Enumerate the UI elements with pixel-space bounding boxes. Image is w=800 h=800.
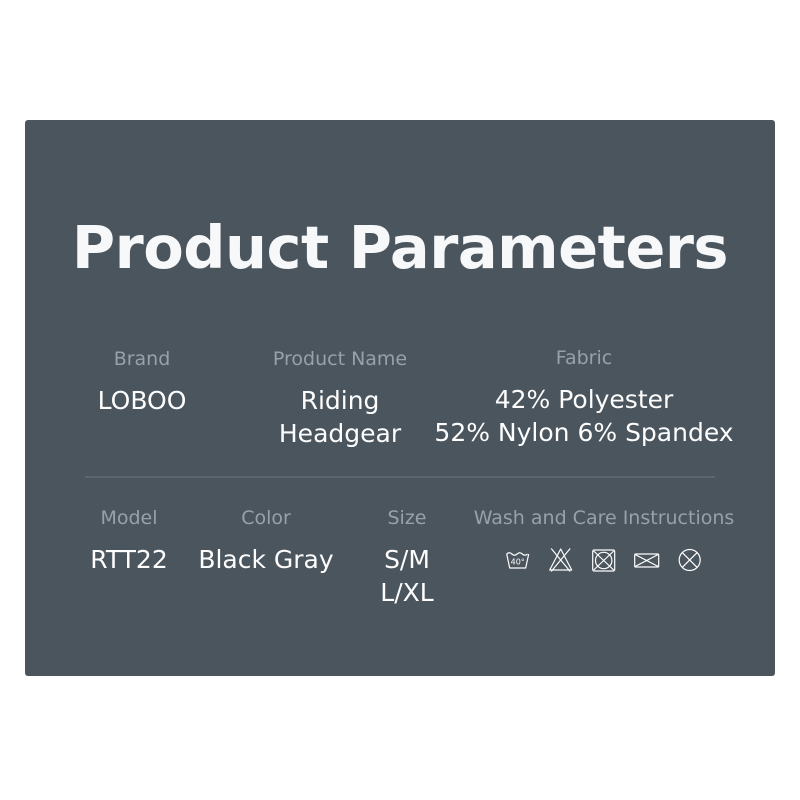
spec-value-color: Black Gray: [198, 543, 333, 576]
do-not-iron-icon: [632, 545, 662, 575]
spec-value-line: LOBOO: [98, 384, 187, 417]
page-root: Product Parameters Brand LOBOO Product N…: [0, 0, 800, 800]
section-divider: [85, 476, 715, 478]
spec-value-line: 52% Nylon 6% Spandex: [434, 416, 733, 449]
spec-cell-product-name: Product Name Riding Headgear: [273, 348, 407, 450]
care-icons-row: 40°: [474, 545, 735, 575]
specs-grid: Brand LOBOO Product Name Riding Headgear…: [25, 120, 775, 676]
spec-cell-fabric: Fabric 42% Polyester 52% Nylon 6% Spande…: [434, 347, 733, 449]
spec-value-product-name: Riding Headgear: [273, 384, 407, 451]
do-not-dry-clean-icon: [675, 545, 705, 575]
spec-label-brand: Brand: [98, 348, 187, 372]
spec-value-brand: LOBOO: [98, 384, 187, 417]
spec-cell-wash-care: Wash and Care Instructions 40°: [474, 507, 735, 575]
do-not-tumble-dry-icon: [589, 545, 619, 575]
spec-label-model: Model: [90, 507, 167, 531]
spec-label-color: Color: [198, 507, 333, 531]
spec-value-line: Headgear: [273, 417, 407, 450]
spec-value-model: RTT22: [90, 543, 167, 576]
spec-label-wash-care: Wash and Care Instructions: [474, 507, 735, 531]
spec-cell-color: Color Black Gray: [198, 507, 333, 576]
spec-label-product-name: Product Name: [273, 348, 407, 372]
wash-40-degrees-icon: 40°: [503, 545, 533, 575]
product-parameters-card: Product Parameters Brand LOBOO Product N…: [25, 120, 775, 676]
spec-value-fabric: 42% Polyester 52% Nylon 6% Spandex: [434, 383, 733, 450]
spec-label-fabric: Fabric: [434, 347, 733, 371]
do-not-bleach-icon: [546, 545, 576, 575]
spec-value-line: Riding: [273, 384, 407, 417]
spec-label-size: Size: [380, 507, 433, 531]
spec-value-line: Black Gray: [198, 543, 333, 576]
wash-temperature-text: 40°: [511, 557, 525, 566]
spec-value-line: S/M: [380, 543, 433, 576]
spec-cell-model: Model RTT22: [90, 507, 167, 576]
spec-value-size: S/M L/XL: [380, 543, 433, 610]
spec-cell-size: Size S/M L/XL: [380, 507, 433, 609]
spec-value-line: L/XL: [380, 576, 433, 609]
spec-cell-brand: Brand LOBOO: [98, 348, 187, 417]
spec-value-line: RTT22: [90, 543, 167, 576]
spec-value-line: 42% Polyester: [434, 383, 733, 416]
